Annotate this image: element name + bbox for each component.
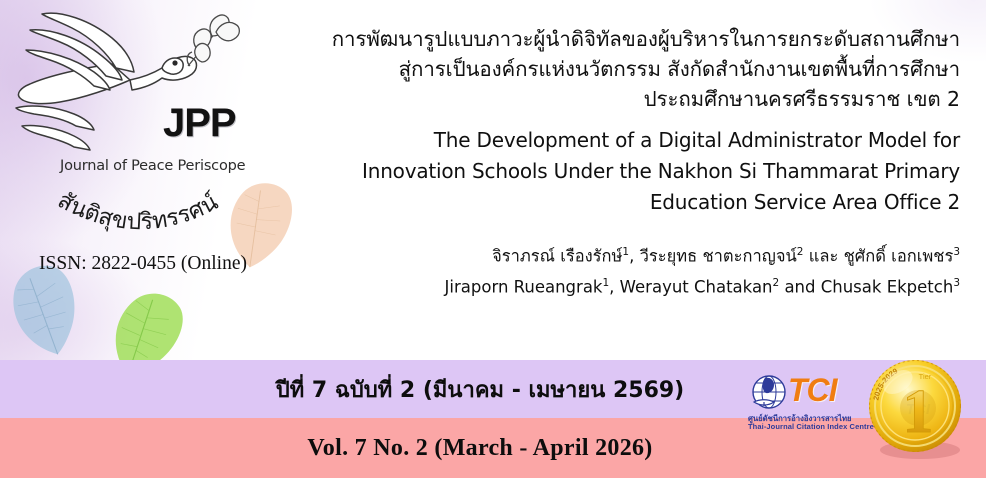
journal-cover-page: JPP Journal of Peace Periscope สันติสุขป… — [0, 0, 986, 478]
journal-name-th-arc: สันติสุขปริทรรศน์ — [42, 166, 292, 246]
article-title-th-line-1: การพัฒนารูปแบบภาวะผู้นำดิจิทัลของผู้บริห… — [300, 24, 960, 54]
article-title-en-line-1: The Development of a Digital Administrat… — [300, 125, 960, 156]
issn-label: ISSN: 2822-0455 (Online) — [39, 253, 247, 275]
tci-acronym: TCI — [788, 372, 837, 409]
article-authors: จิราภรณ์ เรืองรักษ์1, วีระยุทธ ชาตะกาญจน… — [300, 239, 960, 300]
issue-text-th: ปีที่ 7 ฉบับที่ 2 (มีนาคม - เมษายน 2569) — [276, 372, 685, 407]
article-title-th-line-2: สู่การเป็นองค์กรแห่งนวัตกรรม สังกัดสำนัก… — [300, 54, 960, 84]
dove-icon — [12, 6, 252, 171]
article-header: การพัฒนารูปแบบภาวะผู้นำดิจิทัลของผู้บริห… — [300, 24, 960, 300]
tci-name-en: Thai-Journal Citation Index Centre — [748, 422, 874, 431]
article-title-en-line-3: Education Service Area Office 2 — [300, 187, 960, 218]
journal-name-th-text: สันติสุขปริทรรศน์ — [53, 187, 222, 235]
issue-text-en: Vol. 7 No. 2 (March - April 2026) — [307, 435, 652, 462]
author-affiliation-marker: 2 — [797, 246, 804, 258]
author-affiliation-marker: 1 — [602, 277, 609, 289]
author-affiliation-marker: 3 — [953, 277, 960, 289]
author-affiliation-marker: 1 — [622, 246, 629, 258]
tier-number: 1 — [903, 378, 934, 446]
author-affiliation-marker: 3 — [953, 246, 960, 258]
journal-acronym: JPP — [163, 101, 236, 146]
article-authors-en: Jiraporn Rueangrak1, Werayut Chatakan2 a… — [300, 270, 960, 301]
article-authors-th: จิราภรณ์ เรืองรักษ์1, วีระยุทธ ชาตะกาญจน… — [300, 239, 960, 270]
article-title-en-line-2: Innovation Schools Under the Nakhon Si T… — [300, 156, 960, 187]
article-title-th: การพัฒนารูปแบบภาวะผู้นำดิจิทัลของผู้บริห… — [300, 24, 960, 114]
article-title-th-line-3: ประถมศึกษานครศรีธรรมราช เขต 2 — [300, 84, 960, 114]
article-title-en: The Development of a Digital Administrat… — [300, 125, 960, 218]
author-affiliation-marker: 2 — [773, 277, 780, 289]
journal-logo: JPP Journal of Peace Periscope สันติสุขป… — [8, 4, 308, 294]
tci-tier-badge: TCI 2025-2029 Tier 1 — [862, 352, 972, 464]
svg-text:สันติสุขปริทรรศน์: สันติสุขปริทรรศน์ — [53, 187, 222, 235]
